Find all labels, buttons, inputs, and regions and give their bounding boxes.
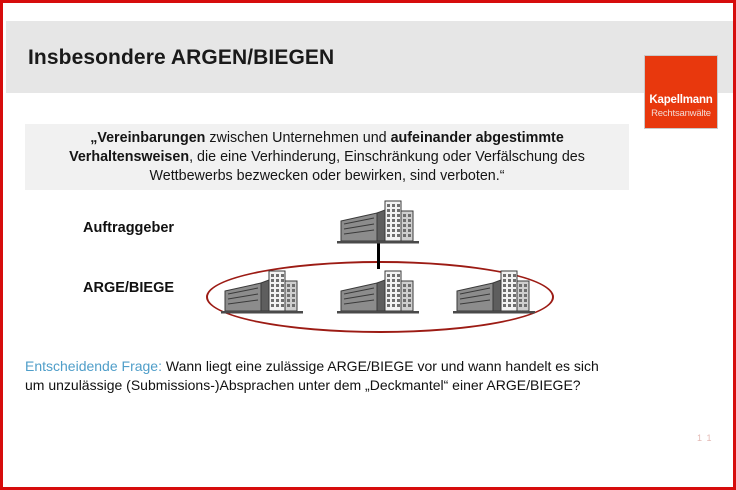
label-arge-biege: ARGE/BIEGE [83, 280, 174, 296]
office-building-icon [453, 267, 535, 315]
quote-text: „Vereinbarungen zwischen Unternehmen und… [47, 129, 607, 186]
kapellmann-logo: Kapellmann Rechtsanwälte [644, 55, 718, 129]
label-auftraggeber: Auftraggeber [83, 220, 174, 236]
key-question-lead: Entscheidende Frage: [25, 358, 162, 374]
page-title: Insbesondere ARGEN/BIEGEN [28, 46, 334, 70]
key-question-text: Entscheidende Frage: Wann liegt eine zul… [25, 357, 621, 395]
office-building-icon [221, 267, 303, 315]
office-building-icon [337, 197, 419, 245]
logo-name: Kapellmann [645, 94, 717, 106]
logo-subtitle: Rechtsanwälte [645, 108, 717, 119]
quote-emphasis: „Vereinbarungen [90, 130, 205, 146]
quote-box: „Vereinbarungen zwischen Unternehmen und… [25, 124, 629, 190]
presentation-slide: Insbesondere ARGEN/BIEGEN Kapellmann Rec… [0, 0, 736, 490]
page-number: 1 1 [697, 433, 713, 443]
quote-plain: , die eine Verhinderung, Einschränkung o… [150, 149, 585, 184]
office-building-icon [337, 267, 419, 315]
arge-biege-diagram: Auftraggeber ARGE/BIEGE [3, 198, 736, 348]
quote-plain: zwischen Unternehmen und [205, 130, 390, 146]
